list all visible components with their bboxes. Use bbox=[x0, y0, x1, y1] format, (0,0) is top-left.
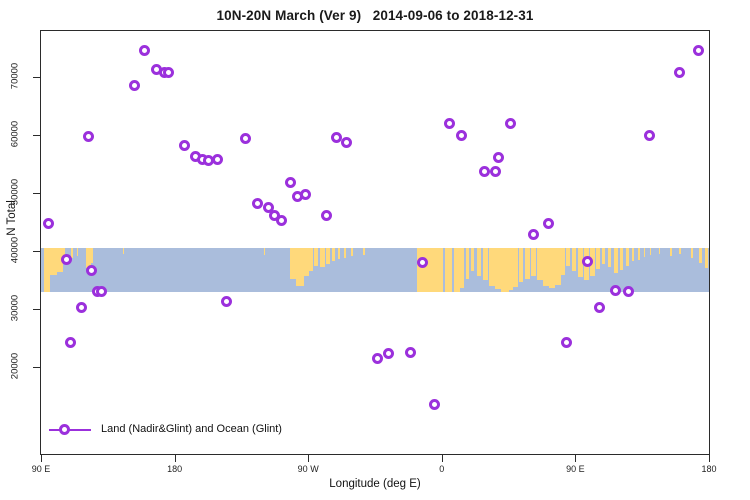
land-patch bbox=[659, 248, 660, 254]
y-tick bbox=[33, 309, 40, 310]
data-point bbox=[528, 229, 539, 240]
x-tick bbox=[308, 455, 309, 462]
land-patch bbox=[596, 248, 600, 269]
data-point bbox=[610, 285, 621, 296]
land-patch bbox=[602, 248, 605, 264]
data-point bbox=[674, 67, 685, 78]
y-tick-label: 30000 bbox=[10, 293, 21, 323]
data-point bbox=[582, 256, 593, 267]
x-tick bbox=[709, 455, 710, 462]
x-tick bbox=[575, 455, 576, 462]
data-point bbox=[372, 353, 383, 364]
data-point bbox=[644, 130, 655, 141]
data-point bbox=[65, 337, 76, 348]
land-patch bbox=[644, 248, 646, 257]
data-point bbox=[331, 132, 342, 143]
land-patch bbox=[471, 248, 474, 271]
data-point bbox=[76, 302, 87, 313]
x-tick bbox=[41, 455, 42, 462]
data-point bbox=[444, 118, 455, 129]
data-point bbox=[86, 265, 97, 276]
land-patch bbox=[344, 248, 346, 258]
land-patch bbox=[561, 248, 565, 275]
data-point bbox=[300, 189, 311, 200]
land-patch bbox=[699, 248, 702, 263]
x-tick-label: 90 E bbox=[32, 464, 51, 474]
x-tick-label: 90 E bbox=[566, 464, 585, 474]
land-patch bbox=[436, 248, 442, 291]
data-point bbox=[163, 67, 174, 78]
land-patch bbox=[632, 248, 634, 261]
data-point bbox=[623, 286, 634, 297]
data-point bbox=[212, 154, 223, 165]
data-point bbox=[321, 210, 332, 221]
data-point bbox=[561, 337, 572, 348]
data-point bbox=[405, 347, 416, 358]
y-tick bbox=[33, 193, 40, 194]
land-patch bbox=[320, 248, 324, 267]
data-point bbox=[221, 296, 232, 307]
land-patch bbox=[519, 248, 523, 282]
data-point bbox=[490, 166, 501, 177]
x-tick bbox=[175, 455, 176, 462]
y-tick-label: 20000 bbox=[10, 351, 21, 381]
land-patch bbox=[460, 248, 464, 288]
land-patch bbox=[77, 248, 79, 256]
data-point bbox=[543, 218, 554, 229]
y-tick bbox=[33, 77, 40, 78]
data-point bbox=[285, 177, 296, 188]
data-point bbox=[96, 286, 107, 297]
data-point bbox=[505, 118, 516, 129]
land-patch bbox=[314, 248, 318, 265]
land-patch bbox=[691, 248, 693, 258]
world-map-band bbox=[41, 248, 709, 291]
chart-title: 10N-20N March (Ver 9) 2014-09-06 to 2018… bbox=[0, 8, 750, 23]
data-point bbox=[479, 166, 490, 177]
legend: Land (Nadir&Glint) and Ocean (Glint) bbox=[41, 415, 341, 445]
land-patch bbox=[705, 248, 709, 268]
land-patch bbox=[670, 248, 672, 256]
land-patch bbox=[638, 248, 640, 259]
data-point bbox=[83, 131, 94, 142]
land-patch bbox=[308, 248, 313, 271]
y-tick bbox=[33, 251, 40, 252]
data-point bbox=[61, 254, 72, 265]
data-point bbox=[429, 399, 440, 410]
data-point bbox=[129, 80, 140, 91]
data-point bbox=[693, 45, 704, 56]
land-patch bbox=[513, 248, 518, 286]
legend-line bbox=[49, 429, 91, 431]
land-patch bbox=[123, 248, 124, 254]
land-patch bbox=[351, 248, 353, 256]
land-patch bbox=[566, 248, 569, 265]
land-patch bbox=[525, 248, 530, 278]
y-tick bbox=[33, 367, 40, 368]
land-patch bbox=[572, 248, 576, 271]
land-patch bbox=[326, 248, 330, 264]
legend-label: Land (Nadir&Glint) and Ocean (Glint) bbox=[101, 423, 282, 435]
plot-area bbox=[41, 31, 709, 454]
y-tick-label: 40000 bbox=[10, 235, 21, 265]
land-patch bbox=[614, 248, 618, 272]
data-point bbox=[493, 152, 504, 163]
land-patch bbox=[626, 248, 629, 265]
data-point bbox=[456, 130, 467, 141]
x-tick-label: 90 W bbox=[298, 464, 319, 474]
land-patch bbox=[608, 248, 611, 267]
data-point bbox=[252, 198, 263, 209]
land-patch bbox=[466, 248, 469, 278]
y-tick bbox=[33, 135, 40, 136]
data-point bbox=[594, 302, 605, 313]
y-tick-label: 50000 bbox=[10, 177, 21, 207]
land-patch bbox=[90, 248, 93, 263]
y-tick-label: 60000 bbox=[10, 119, 21, 149]
land-patch bbox=[679, 248, 680, 254]
x-tick-label: 180 bbox=[701, 464, 716, 474]
data-point bbox=[341, 137, 352, 148]
land-patch bbox=[264, 248, 265, 255]
land-patch bbox=[531, 248, 536, 276]
y-tick-label: 70000 bbox=[10, 61, 21, 91]
legend-marker-icon bbox=[59, 424, 70, 435]
data-point bbox=[139, 45, 150, 56]
scatter-plot-figure: 10N-20N March (Ver 9) 2014-09-06 to 2018… bbox=[0, 0, 750, 500]
land-patch bbox=[650, 248, 651, 255]
land-patch bbox=[363, 248, 364, 255]
x-tick-label: 180 bbox=[167, 464, 182, 474]
land-patch bbox=[332, 248, 335, 261]
x-axis-title: Longitude (deg E) bbox=[0, 478, 750, 490]
land-patch bbox=[338, 248, 340, 258]
land-patch bbox=[445, 248, 452, 291]
land-patch bbox=[477, 248, 481, 276]
data-point bbox=[179, 140, 190, 151]
data-point bbox=[43, 218, 54, 229]
x-tick bbox=[442, 455, 443, 462]
data-point bbox=[383, 348, 394, 359]
data-point bbox=[417, 257, 428, 268]
land-patch bbox=[620, 248, 624, 270]
data-point bbox=[276, 215, 287, 226]
data-point bbox=[240, 133, 251, 144]
land-patch bbox=[483, 248, 487, 280]
x-tick-label: 0 bbox=[439, 464, 444, 474]
